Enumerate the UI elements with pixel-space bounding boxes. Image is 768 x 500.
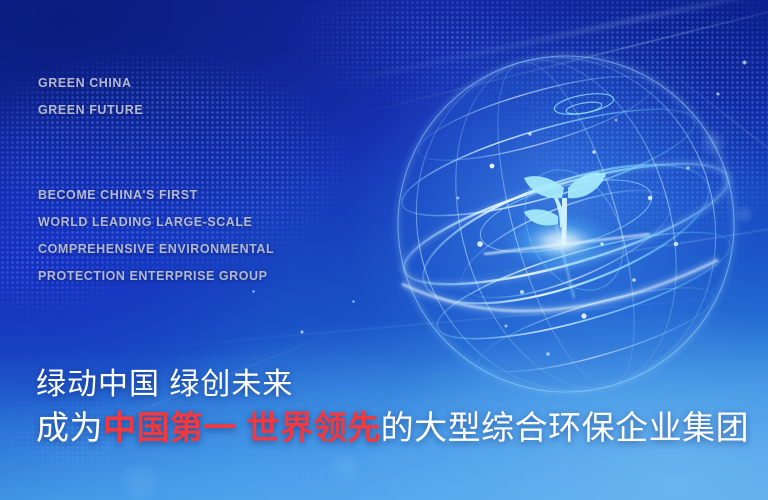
headline-highlight: 中国第一 世界领先 [103,409,381,446]
light-particle [742,60,747,65]
headline-line-2: 成为中国第一 世界领先的大型综合环保企业集团 [36,406,749,450]
light-particle [300,330,304,334]
bokeh-particle [330,452,360,482]
english-statement: BECOME CHINA'S FIRST WORLD LEADING LARGE… [38,182,274,290]
statement-line: COMPREHENSIVE ENVIRONMENTAL [38,236,274,263]
tagline-line: GREEN CHINA [38,70,143,97]
statement-line: WORLD LEADING LARGE-SCALE [38,209,274,236]
bokeh-particle [120,462,160,500]
light-particle [352,300,355,303]
english-tagline: GREEN CHINA GREEN FUTURE [38,70,143,124]
globe-graphic [388,48,748,400]
bokeh-particle [700,130,726,156]
tagline-line: GREEN FUTURE [38,97,143,124]
statement-line: PROTECTION ENTERPRISE GROUP [38,263,274,290]
bokeh-particle [735,205,753,223]
chinese-headline: 绿动中国 绿创未来 成为中国第一 世界领先的大型综合环保企业集团 [36,364,749,450]
light-particle [252,290,255,293]
statement-line: BECOME CHINA'S FIRST [38,182,274,209]
promo-banner: GREEN CHINA GREEN FUTURE BECOME CHINA'S … [0,0,768,500]
headline-line-1: 绿动中国 绿创未来 [36,364,749,406]
light-particle [716,92,720,96]
headline-suffix: 的大型综合环保企业集团 [381,409,750,446]
headline-prefix: 成为 [36,409,103,446]
